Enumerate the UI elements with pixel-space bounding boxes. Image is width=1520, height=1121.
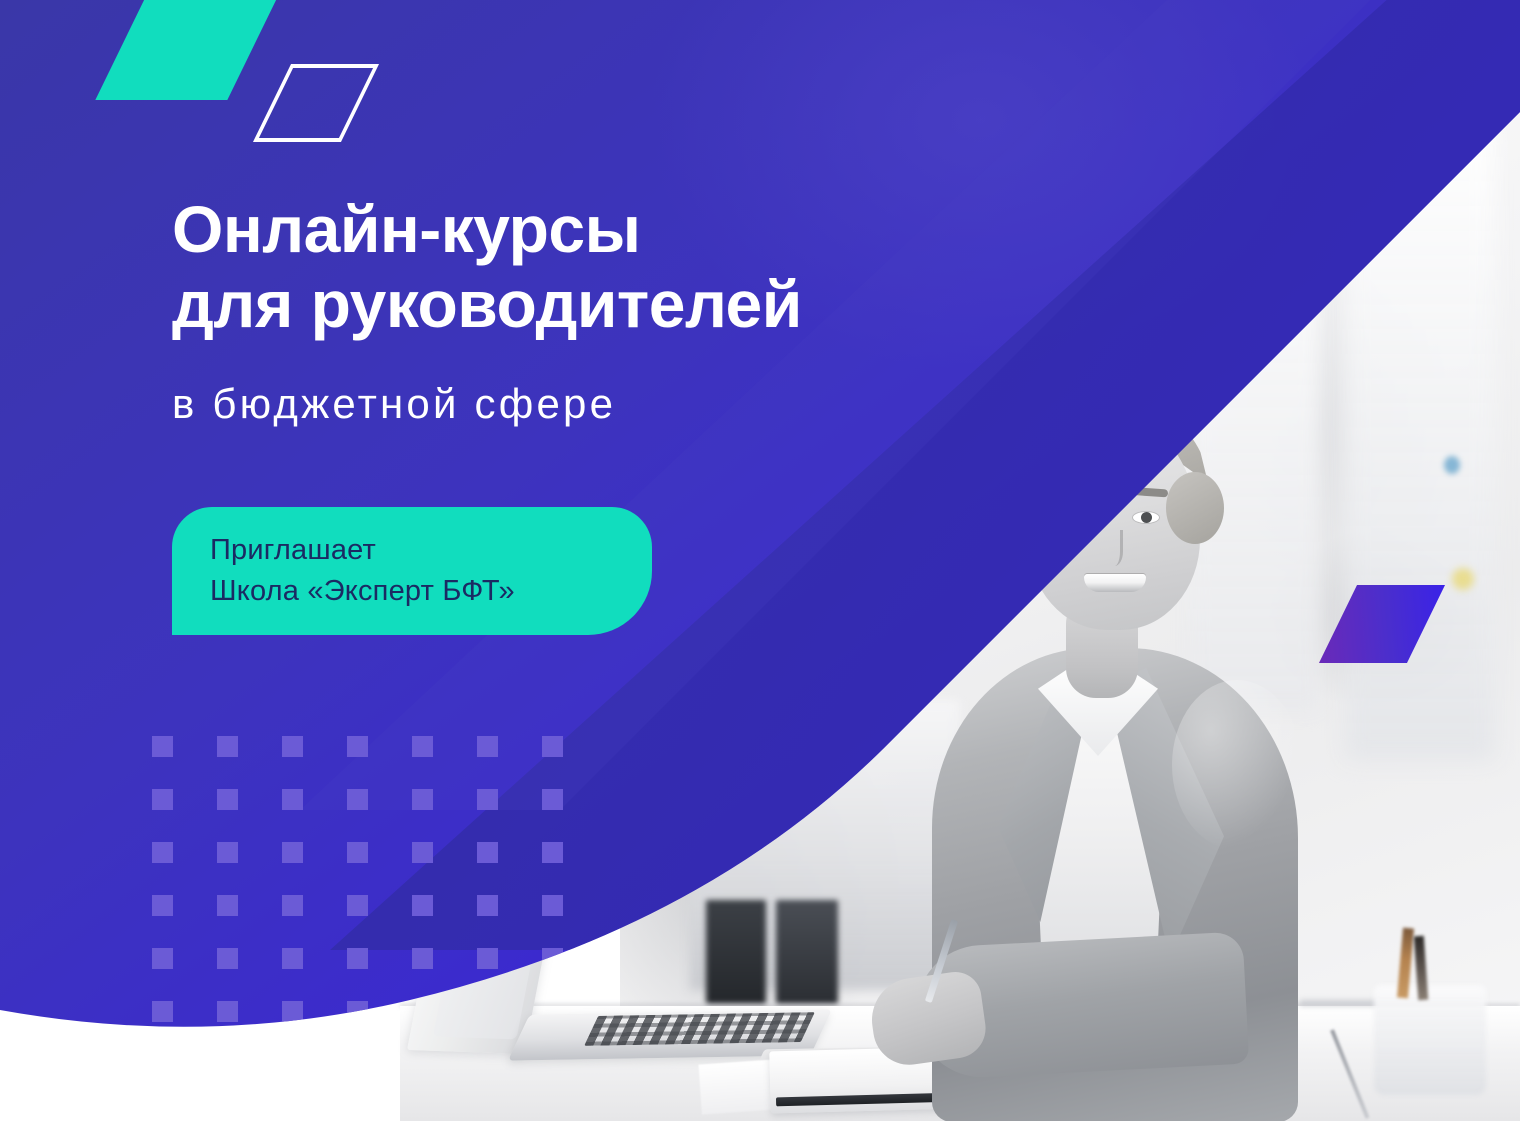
pupil-right (1141, 512, 1152, 523)
page-subtitle: в бюджетной сфере (172, 381, 616, 427)
hair-bun (1166, 472, 1224, 544)
invitation-bubble: Приглашает Школа «Эксперт БФТ» (172, 507, 652, 635)
mouth-smile (1084, 574, 1146, 592)
shoulder-highlight (1172, 680, 1302, 850)
invitation-line-1: Приглашает (210, 530, 652, 571)
binder-right (776, 900, 838, 1004)
binder-left (706, 900, 766, 1004)
pupil-left (1075, 513, 1086, 524)
promo-banner: Онлайн-курсы для руководителей в бюджетн… (0, 0, 1520, 1121)
wall-dot-yellow (1452, 568, 1474, 590)
person-businesswoman (880, 380, 1400, 1121)
invitation-line-2: Школа «Эксперт БФТ» (210, 571, 652, 612)
nose (1102, 530, 1123, 566)
wall-dot-blue (1444, 456, 1460, 474)
laptop-keyboard (584, 1012, 815, 1046)
page-title: Онлайн-курсы для руководителей (172, 192, 1072, 342)
